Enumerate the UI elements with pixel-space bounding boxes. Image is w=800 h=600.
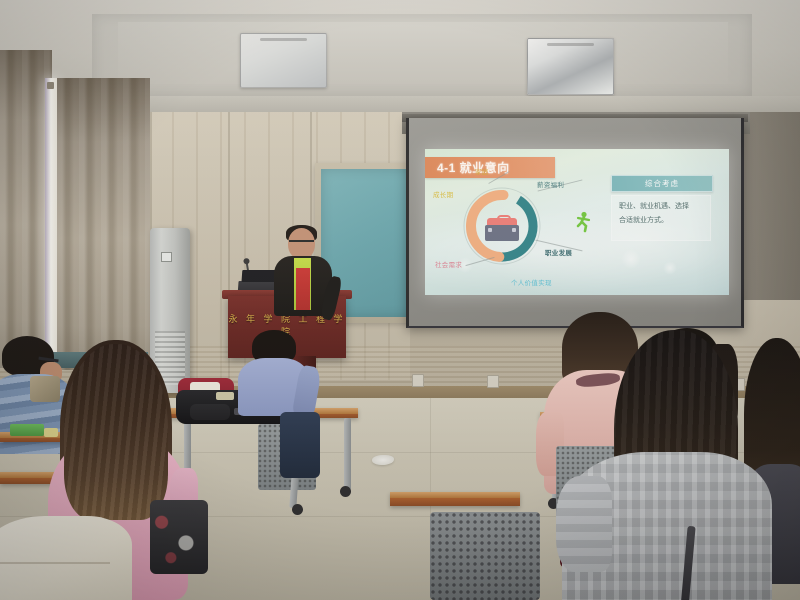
briefcase-icon [485,215,519,241]
desk-caster [340,486,351,497]
projected-slide: 4-1 就业意向 [425,149,729,295]
slide-label-family: 家庭 [475,166,489,176]
slide-info-heading: 综合考虑 [611,175,713,192]
jacket-seam [0,562,110,564]
slide-title: 4-1 就业意向 [425,159,510,176]
ceiling-vent-icon-left [240,33,327,88]
slide-label-growth: 成长期 [433,189,453,199]
yellow-note [44,428,58,437]
classroom-photo: 4-1 就业意向 [0,0,800,600]
ceiling-recess-inner [118,22,728,84]
curtain-right[interactable] [57,78,150,370]
hair-strands [64,344,168,520]
curtain-clip [47,82,54,89]
ac-display-panel[interactable] [161,252,172,262]
wall-outlet-2[interactable] [487,375,499,388]
bokeh-2 [621,249,641,269]
ring-diagram [459,183,545,269]
bokeh-3 [663,261,677,275]
wall-outlet-1[interactable] [412,374,424,387]
presenter [268,228,348,328]
slide-info-heading-text: 综合考虑 [645,178,679,189]
slide-label-salary: 薪资福利 [537,179,564,189]
chair-back-front[interactable] [430,512,540,600]
chair-caster [292,504,303,515]
desk-leg [344,418,351,490]
glasses-icon [289,240,314,247]
green-notebook[interactable] [10,424,44,436]
arm [556,476,612,572]
ceiling-vent-icon-right [527,38,614,95]
floral-handbag[interactable] [150,500,208,574]
torso [0,516,132,600]
slide-label-personal-value: 个人价值实现 [511,277,552,287]
desk-front-center [390,492,520,506]
slide-info-body: 职业、就业机遇、选择 合适就业方式。 [611,195,711,241]
legs [280,412,320,478]
scarf [30,376,60,402]
slide-info-line-1: 职业、就业机遇、选择 [619,202,703,211]
slide-label-social-need: 社会需求 [435,259,462,269]
slide-label-career-dev: 职业发展 [545,247,572,257]
slide-info-line-2: 合适就业方式。 [619,216,703,225]
running-person-icon [575,211,591,233]
projection-screen[interactable]: 4-1 就业意向 [406,118,744,328]
slide-title-bar: 4-1 就业意向 [425,157,555,178]
